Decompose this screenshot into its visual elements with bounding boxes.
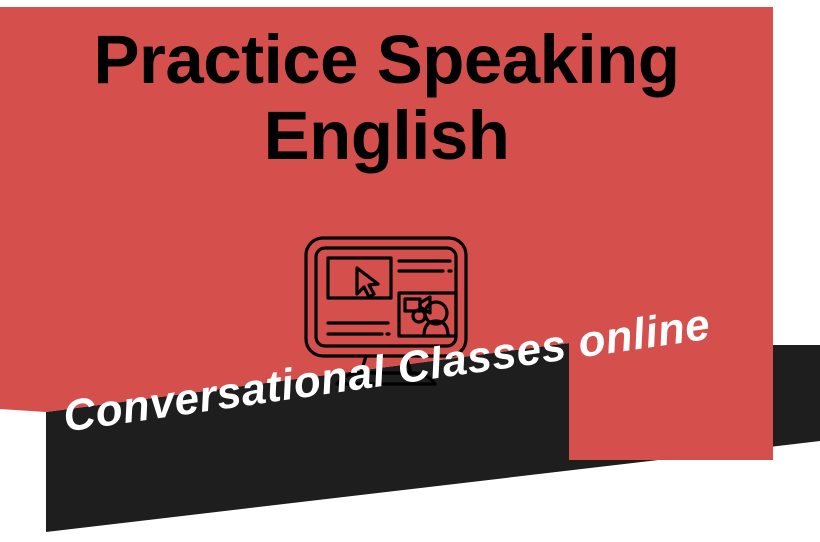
computer-monitor-icon (295, 233, 485, 388)
poster-canvas: Practice Speaking English (0, 0, 820, 542)
monitor-stand (361, 356, 411, 373)
monitor-illustration (295, 233, 485, 388)
mouse-cursor-icon (357, 268, 378, 297)
monitor-base (337, 373, 435, 384)
